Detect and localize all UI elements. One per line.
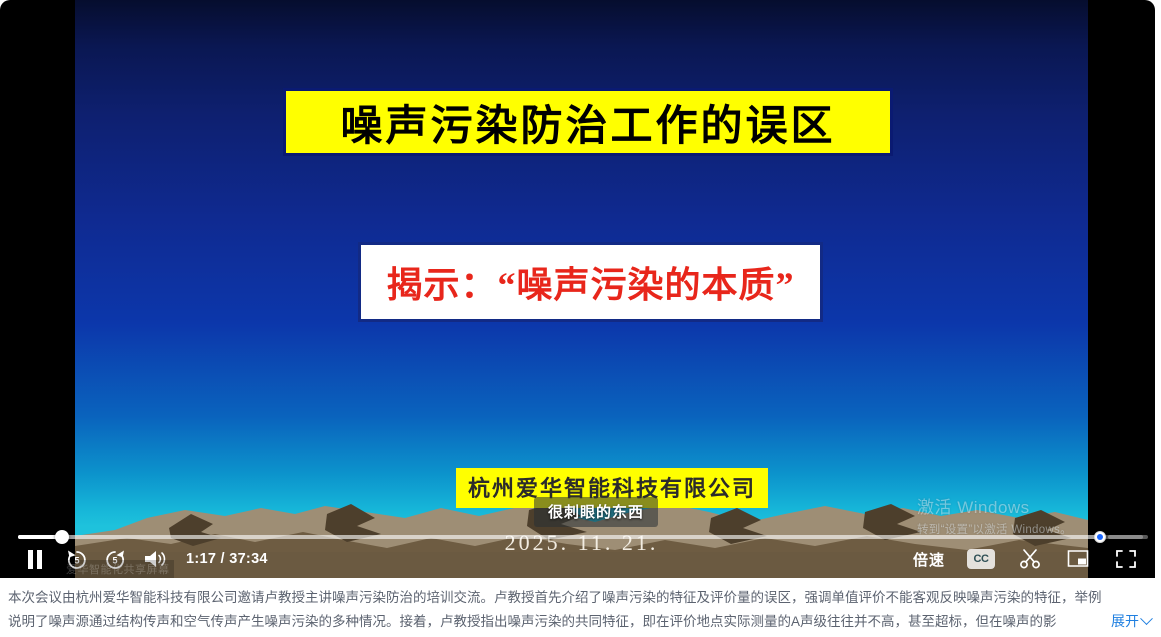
scissors-icon [1019, 548, 1041, 570]
description-line-2: 说明了噪声源通过结构传声和空气传声产生噪声污染的多种情况。接着，卢教授指出噪声污… [8, 610, 1153, 634]
playback-speed-button[interactable]: 倍速 [913, 549, 945, 570]
chevron-down-icon [1140, 612, 1153, 625]
player-controls: 5 5 1:17 / 3 [0, 540, 1155, 578]
danmaku-comment-text: 很刺眼的东西 [548, 504, 644, 521]
fullscreen-button[interactable] [1113, 547, 1139, 571]
forward-5-button[interactable]: 5 [96, 544, 134, 574]
clip-scissors-button[interactable] [1017, 547, 1043, 571]
seek-tail-track[interactable] [1108, 535, 1148, 539]
volume-button[interactable] [136, 544, 174, 574]
captions-cc-button[interactable]: CC [967, 549, 995, 569]
picture-in-picture-icon [1067, 549, 1089, 569]
forward-5-icon: 5 [102, 547, 128, 571]
rewind-5-button[interactable]: 5 [58, 544, 96, 574]
time-display: 1:17 / 37:34 [186, 551, 268, 567]
slide-title-banner: 噪声污染防治工作的误区 [283, 88, 893, 156]
video-player[interactable]: 噪声污染防治工作的误区 揭示：“噪声污染的本质” 杭州爱华智能科技有限公司 很刺… [0, 0, 1155, 578]
svg-text:5: 5 [74, 556, 79, 566]
picture-in-picture-button[interactable] [1065, 547, 1091, 571]
slide-subtitle-box: 揭示：“噪声污染的本质” [358, 242, 823, 322]
fullscreen-icon [1115, 549, 1137, 569]
pause-icon [27, 550, 43, 569]
video-description: 本次会议由杭州爱华智能科技有限公司邀请卢教授主讲噪声污染防治的培训交流。卢教授首… [0, 586, 1161, 634]
video-frame[interactable]: 噪声污染防治工作的误区 揭示：“噪声污染的本质” 杭州爱华智能科技有限公司 很刺… [75, 0, 1088, 578]
expand-label: 展开 [1111, 609, 1139, 633]
volume-icon [143, 549, 167, 569]
slide-subtitle-text: 揭示：“噪声污染的本质” [386, 256, 794, 308]
svg-text:5: 5 [112, 556, 117, 566]
video-page: 噪声污染防治工作的误区 揭示：“噪声污染的本质” 杭州爱华智能科技有限公司 很刺… [0, 0, 1161, 637]
expand-description-button[interactable]: 展开 [1095, 609, 1151, 633]
description-line-1: 本次会议由杭州爱华智能科技有限公司邀请卢教授主讲噪声污染防治的培训交流。卢教授首… [8, 586, 1153, 610]
rewind-5-icon: 5 [64, 547, 90, 571]
seek-buffered [18, 535, 1100, 539]
danmaku-comment: 很刺眼的东西 [534, 497, 658, 527]
player-controls-left: 5 5 1:17 / 3 [0, 544, 268, 574]
slide-title-text: 噪声污染防治工作的误区 [340, 92, 835, 153]
player-controls-right: 倍速 CC [913, 540, 1139, 578]
pause-button[interactable] [18, 544, 52, 574]
